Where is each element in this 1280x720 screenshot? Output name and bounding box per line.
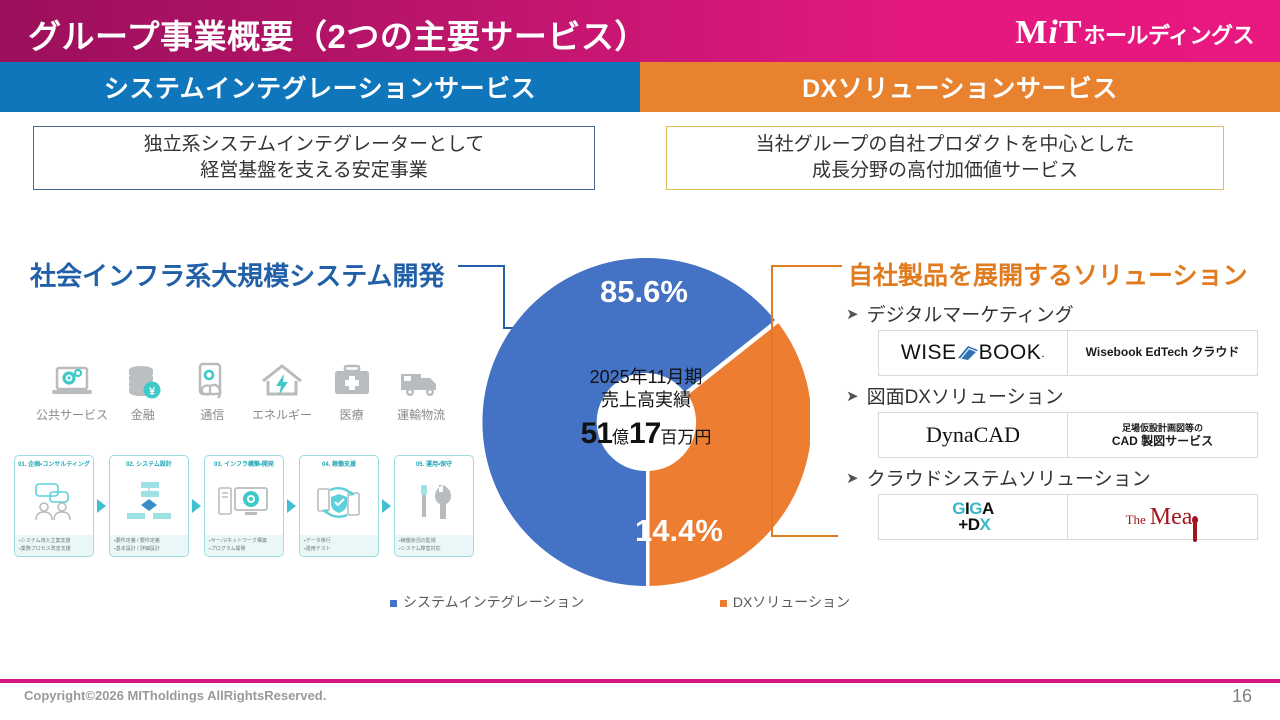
chart-label-dx-solution: 14.4% (635, 513, 723, 549)
speech-bubbles-people-icon (26, 470, 82, 536)
left-lead-heading: 社会インフラ系大規模システム開発 (30, 256, 444, 293)
medical-kit-icon (330, 356, 374, 402)
copyright-text: Copyright©2026 MITholdings AllRightsRese… (24, 688, 326, 703)
product-heading-label: 図面DXソリューション (867, 382, 1064, 409)
flow-step-title: 04. 稼働支援 (319, 462, 359, 470)
product-list: ➤ デジタルマーケティング WISE BOOK. Wisebook EdTec (846, 300, 1258, 546)
product-heading: ➤ デジタルマーケティング (846, 300, 1258, 327)
chevron-right-icon: ➤ (846, 305, 859, 323)
flow-step-1: 01. 企画・コンサルティング ・システム導入立案支援 ・業務プロセス改善支援 (14, 455, 94, 557)
industry-public-service: 公共サービス (36, 356, 108, 423)
flow-step-title: 01. 企画・コンサルティング (15, 462, 93, 470)
coins-yen-icon: ¥ (121, 356, 165, 402)
svg-text:¥: ¥ (149, 386, 156, 398)
chevron-right-icon: ➤ (846, 469, 859, 487)
flowchart-icon (121, 470, 177, 536)
footer-divider (0, 679, 1280, 683)
service-bar-dx-label: DXソリューションサービス (802, 69, 1118, 105)
legend-label: DXソリューション (733, 594, 850, 610)
industry-label: 金融 (131, 406, 155, 423)
product-logo-box: GIGA +DX The Mea (878, 494, 1258, 540)
product-caption: Wisebook EdTech クラウド (1068, 331, 1257, 375)
flow-arrow-icon (97, 499, 106, 513)
description-dx-line2: 成長分野の高付加価値サービス (812, 158, 1078, 184)
smartphone-hand-icon (190, 356, 234, 402)
company-logo: M i T ホールディングス (1015, 16, 1254, 50)
product-heading: ➤ 図面DXソリューション (846, 382, 1258, 409)
product-heading-label: クラウドシステムソリューション (867, 464, 1151, 491)
wisebook-wordmark-right: BOOK (979, 341, 1042, 365)
flow-step-title: 05. 運用・保守 (413, 462, 455, 470)
product-heading-label: デジタルマーケティング (867, 300, 1074, 327)
flow-arrow-icon (382, 499, 391, 513)
industry-finance: ¥ 金融 (108, 356, 178, 423)
industry-medical: 医療 (317, 356, 387, 423)
flow-step-bullets: ・システム導入立案支援 ・業務プロセス改善支援 (15, 535, 93, 556)
description-box-si: 独立系システムインテグレーターとして 経営基盤を支える安定事業 (33, 126, 595, 190)
industry-energy: エネルギー (247, 356, 317, 423)
wisebook-logo: WISE BOOK. (879, 331, 1068, 375)
flow-arrow-icon (192, 499, 201, 513)
description-box-dx: 当社グループの自社プロダクトを中心とした 成長分野の高付加価値サービス (666, 126, 1224, 190)
house-bolt-icon (259, 356, 305, 402)
dynacad-wordmark: DynaCAD (926, 422, 1020, 448)
flow-step-3: 03. インフラ構築・開発 ・サーバ/ネットワーク構築 ・プログラム開発 (204, 455, 284, 557)
logo-letter-t: T (1059, 16, 1082, 50)
themeal-wordmark: Mea (1150, 504, 1200, 531)
industry-label: 医療 (340, 406, 364, 423)
description-dx-line1: 当社グループの自社プロダクトを中心とした (756, 132, 1135, 158)
industry-logistics: 運輸物流 (386, 356, 456, 423)
screwdriver-wrench-icon (409, 470, 459, 536)
wisebook-wordmark-left: WISE (901, 341, 957, 365)
chart-legend: システムインテグレーション DXソリューション (390, 592, 850, 612)
dynacad-logo: DynaCAD (879, 413, 1068, 457)
page-title: グループ事業概要（2つの主要サービス） (28, 10, 648, 58)
product-caption-main: CAD 製図サービス (1112, 434, 1213, 450)
flow-step-bullets: ・要件定義 / 要件定義 ・基本設計 / 詳細設計 (110, 535, 188, 556)
chart-label-system-integration: 85.6% (600, 274, 688, 310)
themeal-logo: The Mea (1068, 495, 1257, 539)
legend-swatch-blue (390, 600, 397, 607)
service-bar-dx: DXソリューションサービス (640, 62, 1280, 112)
themeal-the: The (1126, 512, 1146, 528)
industry-label: 通信 (200, 406, 224, 423)
server-monitor-gear-icon (215, 470, 273, 536)
legend-item-dx-solution: DXソリューション (720, 592, 850, 612)
industry-label: 公共サービス (36, 406, 108, 423)
process-flow: 01. 企画・コンサルティング ・システム導入立案支援 ・業務プロセス改善支援 … (14, 455, 474, 557)
product-heading: ➤ クラウドシステムソリューション (846, 464, 1258, 491)
legend-label: システムインテグレーション (403, 594, 584, 610)
flow-step-title: 03. インフラ構築・開発 (211, 462, 277, 470)
page-number: 16 (1232, 686, 1252, 707)
right-connector-bracket (762, 262, 844, 540)
product-cloud-system: ➤ クラウドシステムソリューション GIGA +DX The Mea (846, 464, 1258, 540)
industry-label: 運輸物流 (397, 406, 445, 423)
gigadx-logo: GIGA +DX (879, 495, 1068, 539)
description-si-line1: 独立系システムインテグレーターとして (144, 132, 485, 158)
industry-icon-row: 公共サービス ¥ 金融 (36, 356, 456, 423)
logo-suffix: ホールディングス (1084, 18, 1254, 50)
flow-step-bullets: ・サーバ/ネットワーク構築 ・プログラム開発 (205, 535, 283, 556)
chart-center-text: 2025年11月期 売上高実績 51億17百万円 (542, 366, 750, 453)
flow-step-4: 04. 稼働支援 ・データ移行 ・運用テスト (299, 455, 379, 557)
product-logo-box: DynaCAD 足場仮設計画図等の CAD 製図サービス (878, 412, 1258, 458)
flow-step-bullets: ・データ移行 ・運用テスト (300, 535, 378, 556)
flow-step-2: 02. システム設計 ・要件定義 / 要件定義 ・基本設計 / 詳細設計 (109, 455, 189, 557)
service-bar-si-label: システムインテグレーションサービス (104, 69, 536, 105)
product-logo-box: WISE BOOK. Wisebook EdTech クラウド (878, 330, 1258, 376)
gigadx-row-dx: +DX (958, 517, 993, 533)
laptop-gear-icon (50, 356, 94, 402)
slide-root: グループ事業概要（2つの主要サービス） M i T ホールディングス システムイ… (0, 0, 1280, 720)
product-drawing-dx: ➤ 図面DXソリューション DynaCAD 足場仮設計画図等の CAD 製図サー… (846, 382, 1258, 458)
chart-center-metric: 売上高実績 (542, 389, 750, 412)
chart-center-amount: 51億17百万円 (542, 414, 750, 453)
product-digital-marketing: ➤ デジタルマーケティング WISE BOOK. Wisebook EdTec (846, 300, 1258, 376)
right-lead-heading: 自社製品を展開するソリューション (848, 256, 1248, 292)
flow-step-bullets: ・稼働状況の監視 ・システム障害対応 (395, 535, 473, 556)
legend-item-system-integration: システムインテグレーション (390, 592, 584, 612)
product-caption-main: Wisebook EdTech クラウド (1086, 345, 1240, 361)
chart-center-period: 2025年11月期 (542, 366, 750, 389)
legend-swatch-orange (720, 600, 727, 607)
chevron-right-icon: ➤ (846, 387, 859, 405)
service-bar-si: システムインテグレーションサービス (0, 62, 640, 112)
product-caption-sub: 足場仮設計画図等の (1112, 421, 1213, 434)
flow-step-title: 02. システム設計 (123, 462, 175, 470)
book-icon (957, 344, 979, 362)
flow-arrow-icon (287, 499, 296, 513)
product-caption: 足場仮設計画図等の CAD 製図サービス (1068, 413, 1257, 457)
logo-letter-i: i (1048, 16, 1057, 50)
truck-icon (397, 356, 445, 402)
industry-label: エネルギー (252, 406, 312, 423)
description-si-line2: 経営基盤を支える安定事業 (200, 158, 427, 184)
logo-letter-m: M (1015, 16, 1047, 50)
industry-telecom: 通信 (178, 356, 248, 423)
data-migration-shield-icon (310, 470, 368, 536)
flow-step-5: 05. 運用・保守 ・稼働状況の監視 ・システム障害対応 (394, 455, 474, 557)
